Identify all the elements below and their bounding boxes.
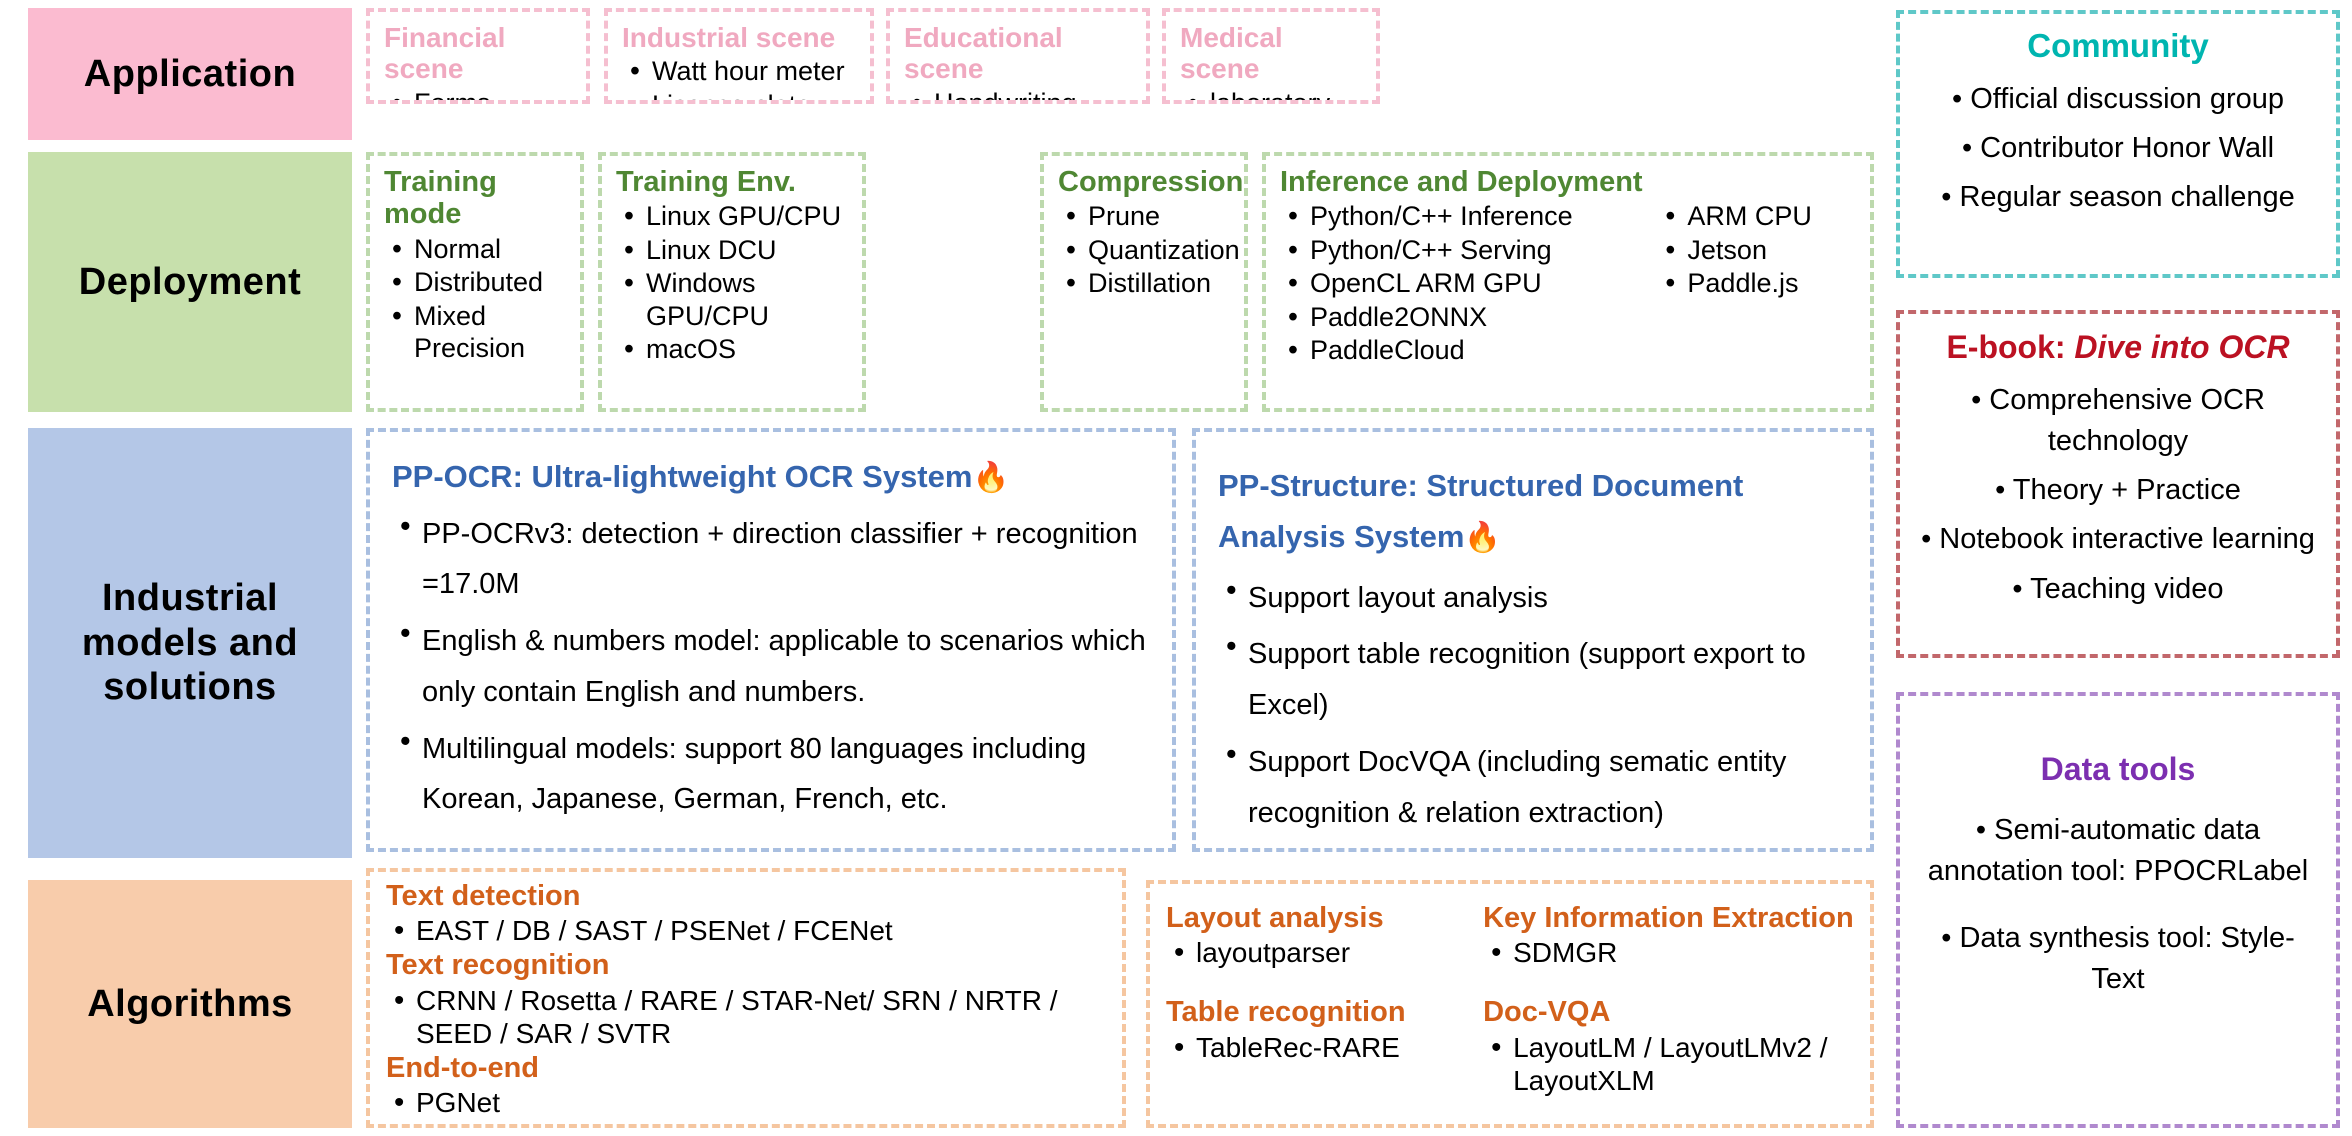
stage-label-algorithms: Algorithms xyxy=(28,880,352,1128)
list-item: Distillation xyxy=(1058,267,1230,299)
card-training-env-list: Linux GPU/CPU Linux DCU Windows GPU/CPU … xyxy=(616,200,848,365)
list-item: Handwriting xyxy=(904,87,1132,104)
list-item: Forms xyxy=(384,87,572,104)
panel-community-title: Community xyxy=(1916,28,2320,65)
group-list-end-to-end: PGNet xyxy=(386,1086,1106,1120)
list-item: Distributed xyxy=(384,266,566,298)
list-item: Python/C++ Serving xyxy=(1280,234,1649,266)
card-pp-structure-list: Support layout analysis Support table re… xyxy=(1218,573,1848,839)
card-training-mode: Training mode Normal Distributed Mixed P… xyxy=(366,152,584,412)
stage-label-models-text: Industrial models and solutions xyxy=(55,576,325,710)
algorithms-document-col-right: Key Information Extraction SDMGR Doc-VQA… xyxy=(1483,902,1854,1099)
card-pp-structure-title: PP-Structure: Structured Document Analys… xyxy=(1218,460,1848,563)
list-item: Support layout analysis xyxy=(1218,573,1848,624)
fire-icon: 🔥 xyxy=(972,461,1009,494)
card-algorithms-document: Layout analysis layoutparser Table recog… xyxy=(1146,880,1874,1128)
list-item: Theory + Practice xyxy=(1918,470,2318,511)
panel-data-tools-title: Data tools xyxy=(1922,752,2314,788)
list-item: Linux GPU/CPU xyxy=(616,200,848,232)
fire-icon: 🔥 xyxy=(1464,521,1501,554)
list-item: Windows GPU/CPU xyxy=(616,267,848,332)
list-item: macOS xyxy=(616,333,848,365)
stage-label-application-text: Application xyxy=(84,52,296,97)
card-pp-ocr-list: PP-OCRv3: detection + direction classifi… xyxy=(392,509,1150,826)
card-inference-deployment-title: Inference and Deployment xyxy=(1280,166,1856,198)
card-pp-structure: PP-Structure: Structured Document Analys… xyxy=(1192,428,1874,852)
group-list-layout-analysis: layoutparser xyxy=(1166,936,1465,970)
list-item: Regular season challenge xyxy=(1916,177,2320,218)
panel-data-tools-list: Semi-automatic data annotation tool: PPO… xyxy=(1922,810,2314,1001)
card-compression-title: Compression xyxy=(1058,166,1230,198)
list-item: PGNet xyxy=(386,1086,1106,1120)
card-financial-scene-list: Forms Bills xyxy=(384,87,572,104)
stage-label-models: Industrial models and solutions xyxy=(28,428,352,858)
stage-label-application: Application xyxy=(28,8,352,140)
group-list-table-recognition: TableRec-RARE xyxy=(1166,1031,1465,1065)
list-item: English & numbers model: applicable to s… xyxy=(392,616,1150,718)
list-item: License plate xyxy=(622,89,856,104)
card-compression: Compression Prune Quantization Distillat… xyxy=(1040,152,1248,412)
group-list-doc-vqa: LayoutLM / LayoutLMv2 / LayoutXLM xyxy=(1483,1031,1854,1098)
list-item: Notebook interactive learning xyxy=(1918,519,2318,560)
list-item: Paddle.js xyxy=(1657,267,1856,299)
algorithms-document-col-left: Layout analysis layoutparser Table recog… xyxy=(1166,902,1465,1099)
list-item: LayoutLM / LayoutLMv2 / LayoutXLM xyxy=(1483,1031,1854,1098)
list-item: Prune xyxy=(1058,200,1230,232)
panel-community: Community Official discussion group Cont… xyxy=(1896,10,2340,278)
panel-ebook-title-italic: Dive into OCR xyxy=(2074,329,2289,365)
list-item: ARM CPU xyxy=(1657,200,1856,232)
card-training-mode-title: Training mode xyxy=(384,166,566,231)
list-item: Data synthesis tool: Style-Text xyxy=(1922,918,2314,1000)
list-item: Mixed Precision xyxy=(384,300,566,365)
list-item: SDMGR xyxy=(1483,936,1854,970)
card-industrial-scene-list: Watt hour meter License plate xyxy=(622,55,856,104)
panel-ebook-list: Comprehensive OCR technology Theory + Pr… xyxy=(1918,380,2318,610)
list-item: Official discussion group xyxy=(1916,79,2320,120)
list-item: laboratory test report xyxy=(1180,87,1362,104)
panel-ebook-title-prefix: E-book: xyxy=(1946,329,2074,365)
stage-label-deployment-text: Deployment xyxy=(79,260,301,305)
list-item: Normal xyxy=(384,233,566,265)
panel-ebook-title: E-book: Dive into OCR xyxy=(1918,330,2318,366)
list-item: Python/C++ Inference xyxy=(1280,200,1649,232)
list-item: Linux DCU xyxy=(616,234,848,266)
list-item: Comprehensive OCR technology xyxy=(1918,380,2318,462)
list-item: PP-OCRv3: detection + direction classifi… xyxy=(392,509,1150,611)
card-medical-scene-list: laboratory test report xyxy=(1180,87,1362,104)
group-title-end-to-end: End-to-end xyxy=(386,1052,1106,1084)
card-training-mode-list: Normal Distributed Mixed Precision xyxy=(384,233,566,365)
list-item: CRNN / Rosetta / RARE / STAR-Net/ SRN / … xyxy=(386,984,1106,1051)
stage-label-algorithms-text: Algorithms xyxy=(87,982,293,1027)
stage-label-deployment: Deployment xyxy=(28,152,352,412)
card-industrial-scene-title: Industrial scene xyxy=(622,22,856,53)
list-item: Multilingual models: support 80 language… xyxy=(392,724,1150,826)
panel-community-list: Official discussion group Contributor Ho… xyxy=(1916,79,2320,219)
card-inference-deployment-list-primary: Python/C++ Inference Python/C++ Serving … xyxy=(1280,200,1649,367)
list-item: Jetson xyxy=(1657,234,1856,266)
card-educational-scene: Educational scene Handwriting Formula xyxy=(886,8,1150,104)
list-item: OpenCL ARM GPU xyxy=(1280,267,1649,299)
card-medical-scene-title: Medical scene xyxy=(1180,22,1362,85)
card-financial-scene-title: Financial scene xyxy=(384,22,572,85)
group-list-key-information-extraction: SDMGR xyxy=(1483,936,1854,970)
list-item: EAST / DB / SAST / PSENet / FCENet xyxy=(386,914,1106,948)
card-financial-scene: Financial scene Forms Bills xyxy=(366,8,590,104)
list-item: Teaching video xyxy=(1918,569,2318,610)
group-title-doc-vqa: Doc-VQA xyxy=(1483,996,1854,1028)
group-title-text-recognition: Text recognition xyxy=(386,949,1106,981)
list-item: Support table recognition (support expor… xyxy=(1218,629,1848,731)
card-pp-ocr-title: PP-OCR: Ultra-lightweight OCR System🔥 xyxy=(392,460,1150,495)
card-pp-ocr: PP-OCR: Ultra-lightweight OCR System🔥 PP… xyxy=(366,428,1176,852)
card-pp-ocr-title-text: PP-OCR: Ultra-lightweight OCR System xyxy=(392,459,972,494)
list-item: TableRec-RARE xyxy=(1166,1031,1465,1065)
group-list-text-recognition: CRNN / Rosetta / RARE / STAR-Net/ SRN / … xyxy=(386,984,1106,1051)
list-item: Semi-automatic data annotation tool: PPO… xyxy=(1922,810,2314,892)
list-item: layoutparser xyxy=(1166,936,1465,970)
list-item: Contributor Honor Wall xyxy=(1916,128,2320,169)
card-educational-scene-title: Educational scene xyxy=(904,22,1132,85)
card-algorithms-core: Text detection EAST / DB / SAST / PSENet… xyxy=(366,868,1126,1128)
card-educational-scene-list: Handwriting Formula xyxy=(904,87,1132,104)
list-item: PaddleCloud xyxy=(1280,334,1649,366)
card-medical-scene: Medical scene laboratory test report xyxy=(1162,8,1380,104)
group-title-text-detection: Text detection xyxy=(386,880,1106,912)
group-title-table-recognition: Table recognition xyxy=(1166,996,1465,1028)
card-inference-deployment: Inference and Deployment Python/C++ Infe… xyxy=(1262,152,1874,412)
list-item: Paddle2ONNX xyxy=(1280,301,1649,333)
list-item: Quantization xyxy=(1058,234,1230,266)
list-item: Support DocVQA (including sematic entity… xyxy=(1218,737,1848,839)
group-title-layout-analysis: Layout analysis xyxy=(1166,902,1465,934)
group-title-key-information-extraction: Key Information Extraction xyxy=(1483,902,1854,934)
architecture-diagram: Application Deployment Industrial models… xyxy=(0,0,2352,1136)
panel-ebook: E-book: Dive into OCR Comprehensive OCR … xyxy=(1896,310,2340,658)
card-training-env-title: Training Env. xyxy=(616,166,848,198)
card-industrial-scene: Industrial scene Watt hour meter License… xyxy=(604,8,874,104)
card-compression-list: Prune Quantization Distillation xyxy=(1058,200,1230,299)
list-item: Watt hour meter xyxy=(622,55,856,87)
group-list-text-detection: EAST / DB / SAST / PSENet / FCENet xyxy=(386,914,1106,948)
card-inference-deployment-list-hardware: ARM CPU Jetson Paddle.js xyxy=(1657,200,1856,367)
panel-data-tools: Data tools Semi-automatic data annotatio… xyxy=(1896,692,2340,1128)
card-training-env: Training Env. Linux GPU/CPU Linux DCU Wi… xyxy=(598,152,866,412)
